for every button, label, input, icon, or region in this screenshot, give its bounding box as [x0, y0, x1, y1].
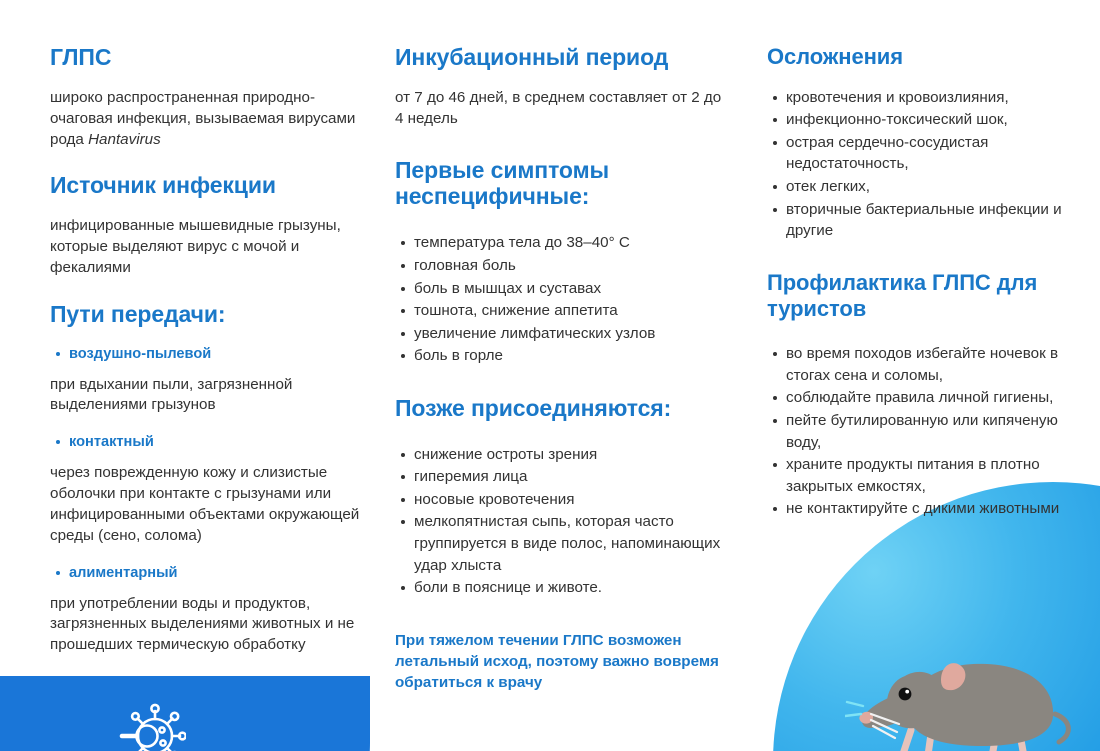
virus-magnifier-icon: [110, 698, 186, 751]
list-item: тошнота, снижение аппетита: [414, 300, 725, 322]
list-item: носовые кровотечения: [414, 489, 725, 511]
route-label-airborne-dust: воздушно-пылевой: [50, 345, 368, 364]
list-complications: кровотечения и кровоизлияния, инфекционн…: [767, 87, 1067, 242]
list-item: соблюдайте правила личной гигиены,: [786, 387, 1067, 409]
list-item: инфекционно-токсический шок,: [786, 109, 1067, 131]
infographic-page: ГЛПС широко распространенная природно-оч…: [0, 0, 1100, 751]
list-later-symptoms: снижение остроты зрения гиперемия лица н…: [395, 444, 725, 599]
heading-prevention-for-tourists: Профилактика ГЛПС для туристов: [767, 270, 1067, 321]
list-item: снижение остроты зрения: [414, 444, 725, 466]
paragraph-glps-description: широко распространенная природно-очагова…: [50, 88, 368, 150]
glps-description-italic: Hantavirus: [88, 131, 161, 148]
mouse-illustration: [845, 636, 1075, 751]
list-item: боль в горле: [414, 345, 725, 367]
heading-incubation-period: Инкубационный период: [395, 44, 725, 71]
heading-source-of-infection: Источник инфекции: [50, 172, 368, 199]
heading-complications: Осложнения: [767, 44, 1067, 70]
route-description-airborne-dust: при вдыхании пыли, загрязненной выделени…: [50, 375, 368, 417]
list-item: кровотечения и кровоизлияния,: [786, 87, 1067, 109]
heading-glps: ГЛПС: [50, 44, 368, 71]
column-middle: Инкубационный период от 7 до 46 дней, в …: [395, 44, 725, 694]
route-label-alimentary: алиментарный: [50, 564, 368, 583]
list-item: увеличение лимфатических узлов: [414, 323, 725, 345]
column-left: ГЛПС широко распространенная природно-оч…: [50, 44, 368, 656]
list-first-symptoms: температура тела до 38–40° С головная бо…: [395, 232, 725, 366]
heading-first-symptoms: Первые симптомы неспецифичные:: [395, 157, 725, 211]
list-item: гиперемия лица: [414, 466, 725, 488]
column-right: Осложнения кровотечения и кровоизлияния,…: [767, 44, 1067, 521]
list-item: не контактируйте с дикими животными: [786, 498, 1067, 520]
route-description-alimentary: при употреблении воды и продуктов, загря…: [50, 594, 368, 656]
paragraph-source-of-infection: инфицированные мышевидные грызуны, котор…: [50, 216, 368, 278]
callout-severe-course-warning: При тяжелом течении ГЛПС возможен леталь…: [395, 631, 725, 694]
list-item: храните продукты питания в плотно закрыт…: [786, 454, 1067, 497]
list-item: во время походов избегайте ночевок в сто…: [786, 343, 1067, 386]
list-item: острая сердечно-сосудистая недостаточнос…: [786, 132, 1067, 175]
paragraph-incubation-period: от 7 до 46 дней, в среднем составляет от…: [395, 88, 725, 130]
list-item: боли в пояснице и животе.: [414, 577, 725, 599]
blue-circle-bottom-right: [773, 482, 1100, 751]
list-item: мелкопятнистая сыпь, которая часто групп…: [414, 511, 725, 576]
list-item: отек легких,: [786, 176, 1067, 198]
route-description-contact: через поврежденную кожу и слизистые обол…: [50, 463, 368, 546]
heading-transmission-routes: Пути передачи:: [50, 301, 368, 328]
route-label-contact: контактный: [50, 433, 368, 452]
list-item: температура тела до 38–40° С: [414, 232, 725, 254]
blue-blob-bottom-left: [0, 676, 370, 751]
list-item: головная боль: [414, 255, 725, 277]
heading-later-symptoms: Позже присоединяются:: [395, 395, 725, 422]
list-prevention-for-tourists: во время походов избегайте ночевок в сто…: [767, 343, 1067, 520]
list-item: боль в мышцах и суставах: [414, 278, 725, 300]
list-item: вторичные бактериальные инфекции и други…: [786, 199, 1067, 242]
list-item: пейте бутилированную или кипяченую воду,: [786, 410, 1067, 453]
